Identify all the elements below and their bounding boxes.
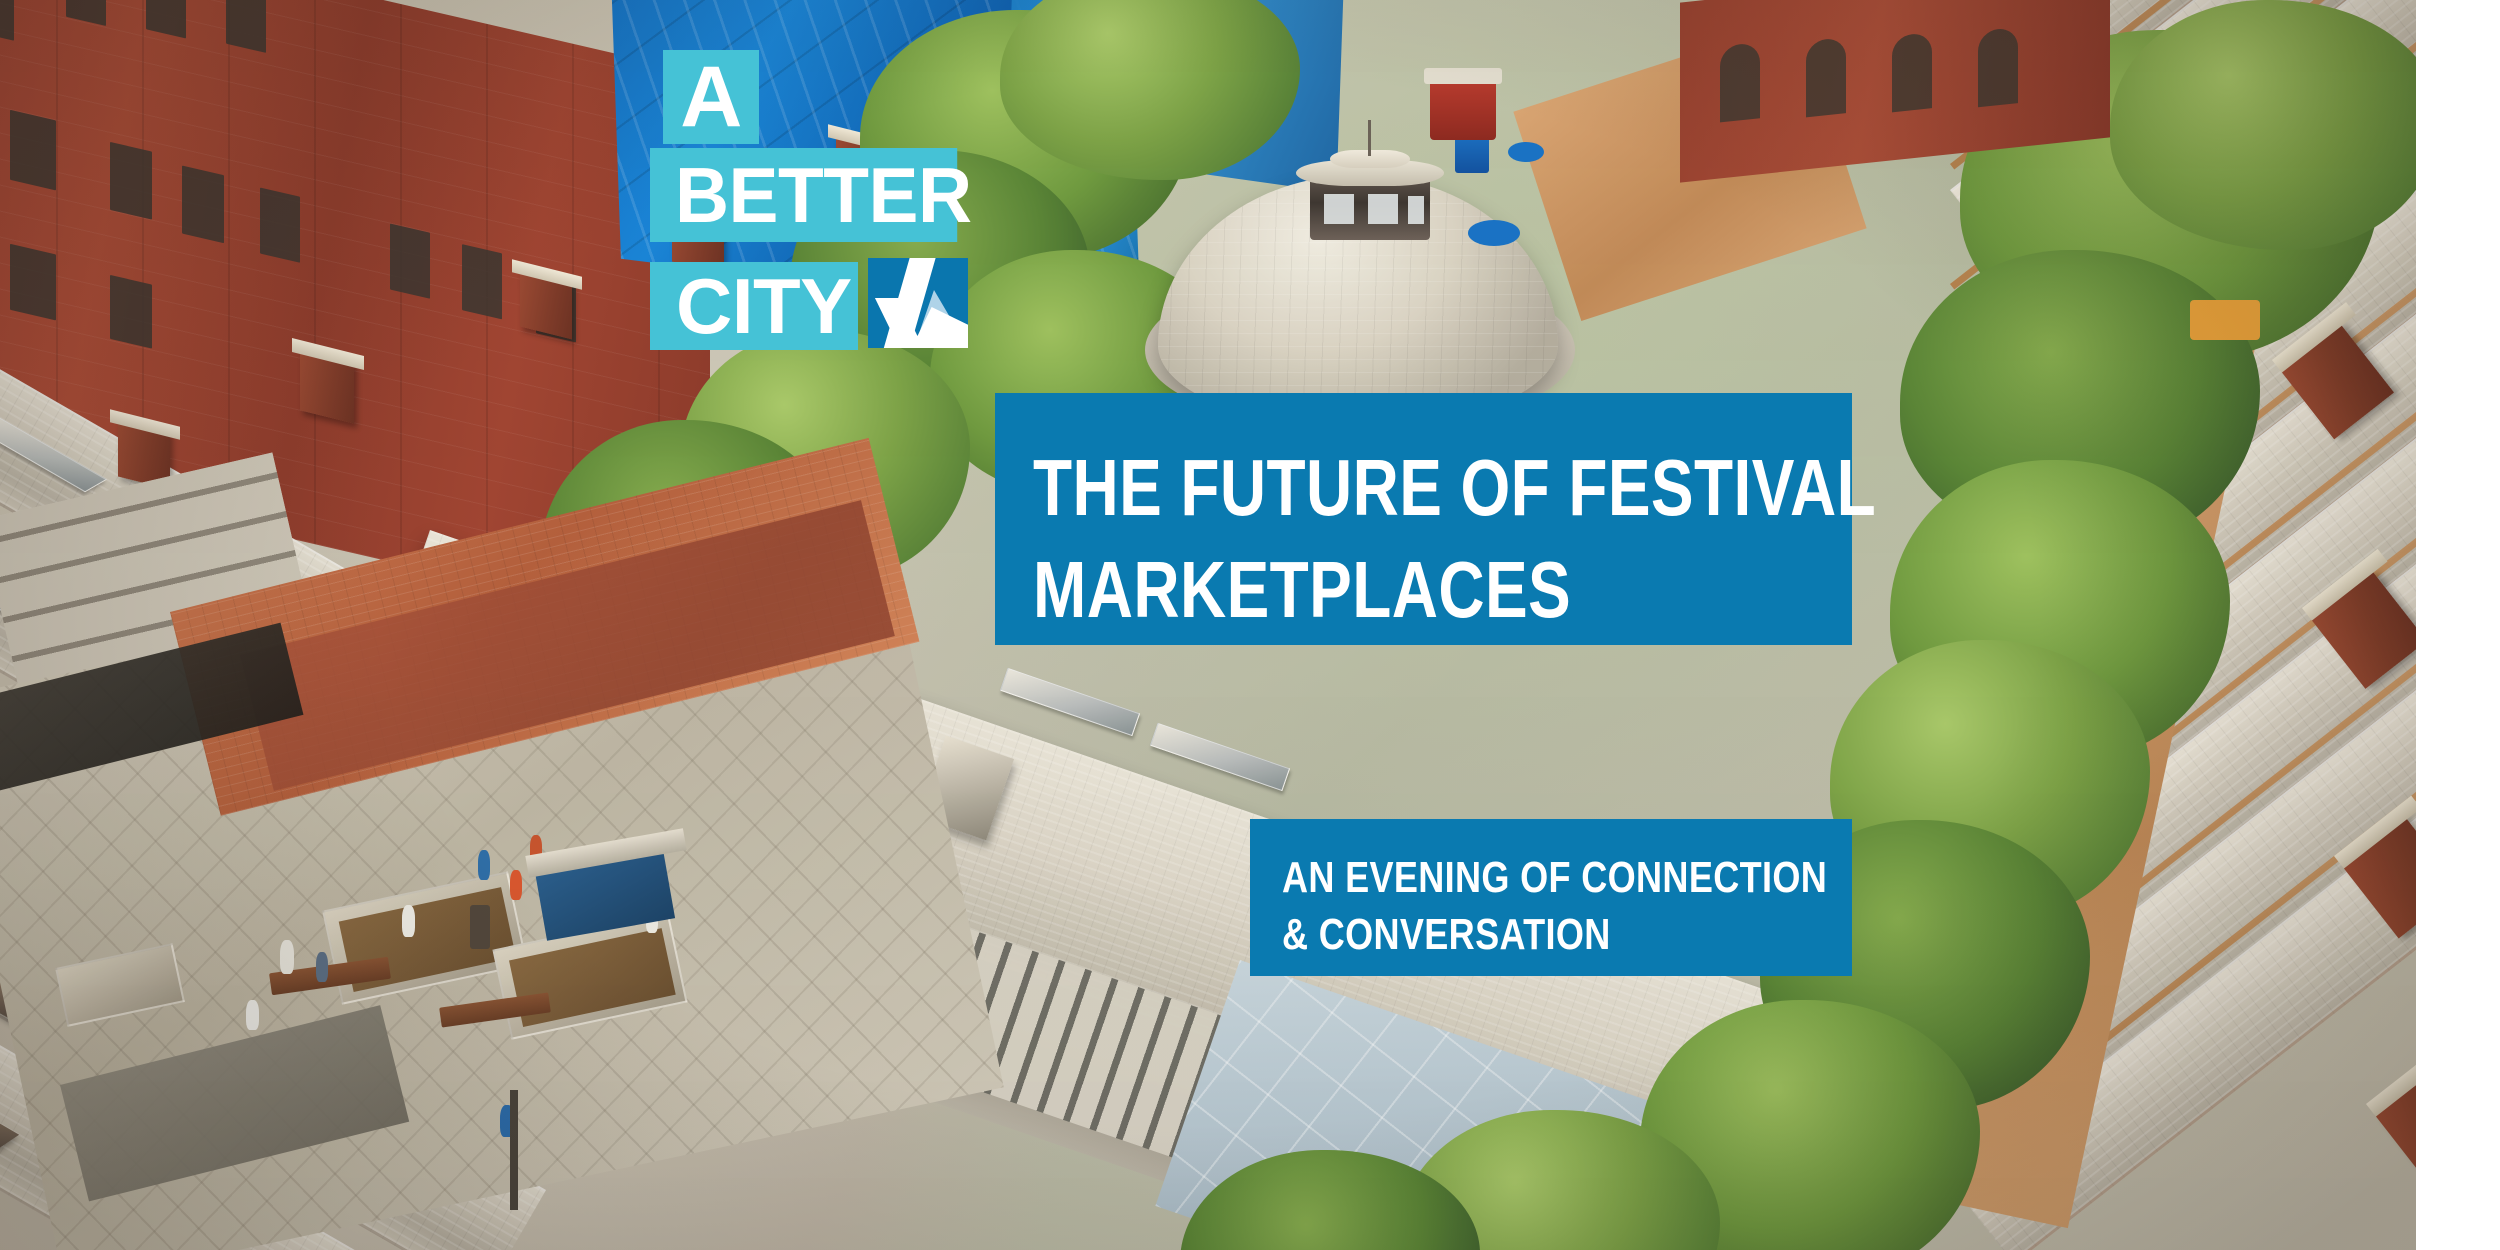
event-title-line-2: MARKETPLACES xyxy=(1033,539,1688,641)
logo-line-a: A xyxy=(663,50,759,144)
logo-line-city: CITY xyxy=(650,262,858,350)
right-white-margin xyxy=(2416,0,2500,1250)
event-subtitle-block: AN EVENING OF CONNECTION & CONVERSATION xyxy=(1250,819,1852,976)
event-subtitle-line-1: AN EVENING OF CONNECTION xyxy=(1282,849,1749,906)
event-subtitle-line-2: & CONVERSATION xyxy=(1282,906,1749,963)
event-title-block: THE FUTURE OF FESTIVAL MARKETPLACES xyxy=(995,393,1852,645)
promo-graphic: A BETTER CITY THE FUTURE OF FESTIVAL MAR… xyxy=(0,0,2500,1250)
logo-line-better: BETTER xyxy=(650,148,957,242)
event-title-line-1: THE FUTURE OF FESTIVAL xyxy=(1033,437,1688,539)
abc-arrow-mark-icon xyxy=(868,258,968,348)
